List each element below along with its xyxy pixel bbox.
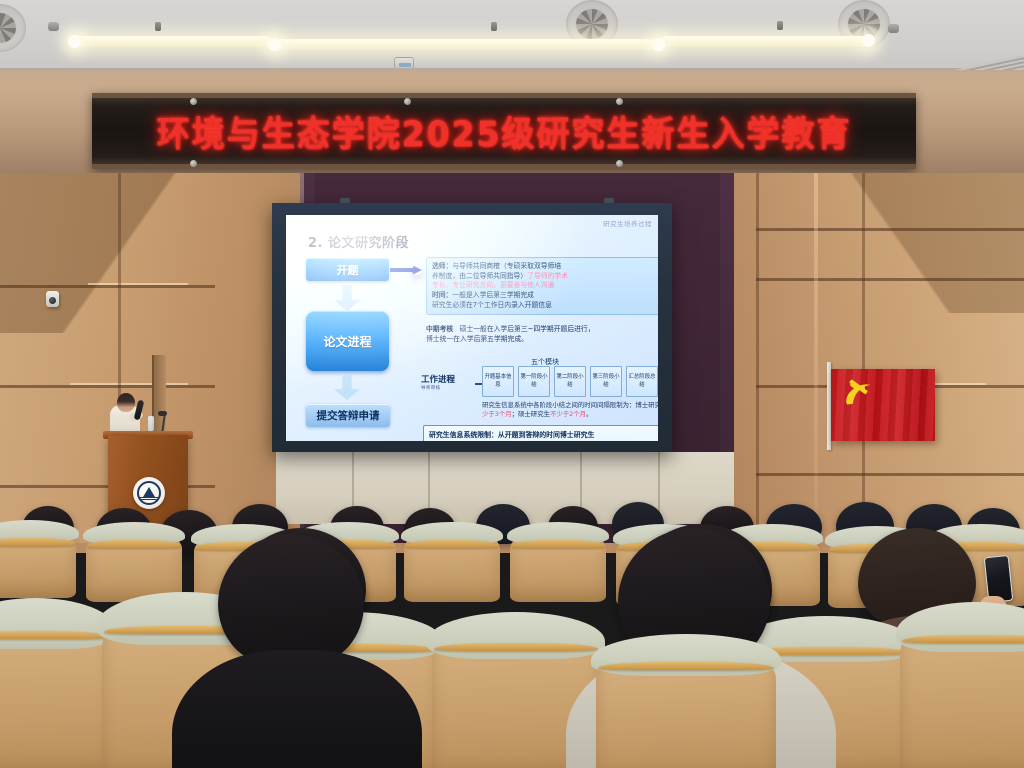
- kaiti-line3-hl: 专长、专业研究方向，更要善与他人沟通: [432, 281, 658, 291]
- sprinkler-icon: [155, 22, 161, 31]
- mic-stand-head: [158, 411, 167, 416]
- projection-screen: 研究生培养过程 2. 论文研究阶段 开题 论文进程 提交答辩申请 选师：与导师共…: [272, 203, 672, 452]
- auditorium-seat: [900, 608, 1024, 768]
- interval-mid: 制为：博士研究生: [616, 401, 658, 409]
- auditorium-seat: [510, 528, 606, 602]
- down-arrow-icon: [334, 374, 360, 400]
- flow-node-lunwen: 论文进程: [306, 311, 389, 371]
- kaiti-line2: 养制度，由二位导师共同指导）: [432, 272, 527, 280]
- banner-bolt: [404, 98, 411, 105]
- banner-text: 环境与生态学院2025级研究生新生入学教育: [157, 106, 852, 157]
- kaiti-line5: 研究生必须在7个工作日内录入开题信息: [432, 301, 658, 311]
- ceiling-light-cap: [68, 35, 81, 48]
- hammer-and-sickle-icon: [840, 378, 878, 412]
- interval-note: 研究生信息系统中各阶段小结之间的时间间隔限制为：博士研究生不少于3个月；硕士研究…: [482, 401, 658, 419]
- auditorium-seat: [0, 604, 110, 768]
- process-sublabel: 导师审核: [421, 385, 455, 391]
- module-cell: 开题基本信息: [482, 366, 514, 397]
- midterm-line1: 硕士一般在入学后第三~四学期开题后进行，: [460, 325, 595, 333]
- sprinkler-icon: [777, 21, 783, 30]
- wood-wall-right: [734, 173, 1024, 543]
- kaiti-line1-label: 选师：: [432, 262, 452, 270]
- led-banner: 环境与生态学院2025级研究生新生入学教育: [92, 93, 916, 169]
- flow-node-tijiao: 提交答辩申请: [306, 404, 390, 427]
- banner-bolt: [616, 160, 623, 167]
- module-cell: 第二阶段小结: [554, 366, 586, 397]
- downlight-icon: [48, 22, 59, 31]
- auditorium-seat: [86, 528, 182, 602]
- ceiling-light-cap: [862, 34, 875, 47]
- kaiti-line1: 与导师共同商榷（专硕采取双导师培: [452, 262, 561, 270]
- interval-hl3: 少于2个月: [556, 410, 586, 418]
- bottom-line1: 研究生信息系统限制：从开题到答辩的时间博士研究生: [429, 430, 658, 440]
- module-cell: 第三阶段小结: [590, 366, 622, 397]
- midterm-label: 中期考核: [426, 325, 453, 333]
- ceiling-light-cap: [652, 38, 665, 51]
- process-label: 工作进程 导师审核: [421, 373, 455, 391]
- module-cell: 第一阶段小结: [518, 366, 550, 397]
- ceiling-light: [275, 39, 655, 50]
- midterm-text: 中期考核 硕士一般在入学后第三~四学期开题后进行， 博士统一在入学后第五学期完成…: [426, 325, 658, 344]
- kaiti-line2-hl: 了导师的学术: [527, 272, 568, 280]
- ceiling-light-cap: [268, 38, 281, 51]
- water-bottle: [148, 416, 154, 432]
- process-label-text: 工作进程: [421, 375, 455, 385]
- auditorium-seat: [404, 528, 500, 602]
- downlight-icon: [888, 24, 899, 33]
- module-cell: 汇总阶段总结: [626, 366, 658, 397]
- ceiling-light: [660, 36, 870, 47]
- wall-corner: [814, 173, 818, 543]
- interval-mid2: ；硕士研究生: [512, 410, 550, 418]
- right-arrow-icon: [390, 265, 424, 274]
- audience-area: tell th: [0, 500, 1024, 768]
- down-arrow-icon: [334, 285, 360, 311]
- sprinkler-icon: [491, 22, 497, 31]
- interval-prefix: 研究生信息系统中各阶段小结之间的时间间隔限: [482, 401, 616, 409]
- auditorium-photo: 环境与生态学院2025级研究生新生入学教育: [0, 0, 1024, 768]
- auditorium-seat: [0, 526, 76, 598]
- system-limit-box: 研究生信息系统限制：从开题到答辩的时间博士研究生 不少于15个月；硕士研究生不少…: [423, 425, 658, 441]
- security-camera-icon: [46, 291, 59, 307]
- kaiti-line4: 一般是入学后第三学期完成: [452, 291, 534, 299]
- smoke-detector-icon: [394, 57, 414, 69]
- auditorium-seat: [596, 640, 776, 768]
- speaker-head: [117, 393, 135, 412]
- kaiti-description-box: 选师：与导师共同商榷（专硕采取双导师培 养制度，由二位导师共同指导）了导师的学术…: [426, 257, 658, 315]
- presentation-slide: 研究生培养过程 2. 论文研究阶段 开题 论文进程 提交答辩申请 选师：与导师共…: [286, 215, 658, 441]
- slide-header: 研究生培养过程: [603, 218, 652, 228]
- kaiti-line4-label: 时间：: [432, 291, 452, 299]
- audience-head: [218, 534, 364, 664]
- midterm-line2: 博士统一在入学后第五学期完成。: [426, 335, 658, 345]
- interval-suffix: 。: [586, 410, 592, 418]
- flow-node-kaiti: 开题: [306, 258, 389, 281]
- ceiling-light: [72, 36, 272, 47]
- banner-bolt: [616, 98, 623, 105]
- modules-row: 开题基本信息 第一阶段小结 第二阶段小结 第三阶段小结 汇总阶段总结: [482, 366, 658, 397]
- banner-bolt: [190, 160, 197, 167]
- banner-bolt: [190, 98, 197, 105]
- slide-title: 2. 论文研究阶段: [308, 232, 409, 251]
- cpc-party-flag: [831, 369, 935, 441]
